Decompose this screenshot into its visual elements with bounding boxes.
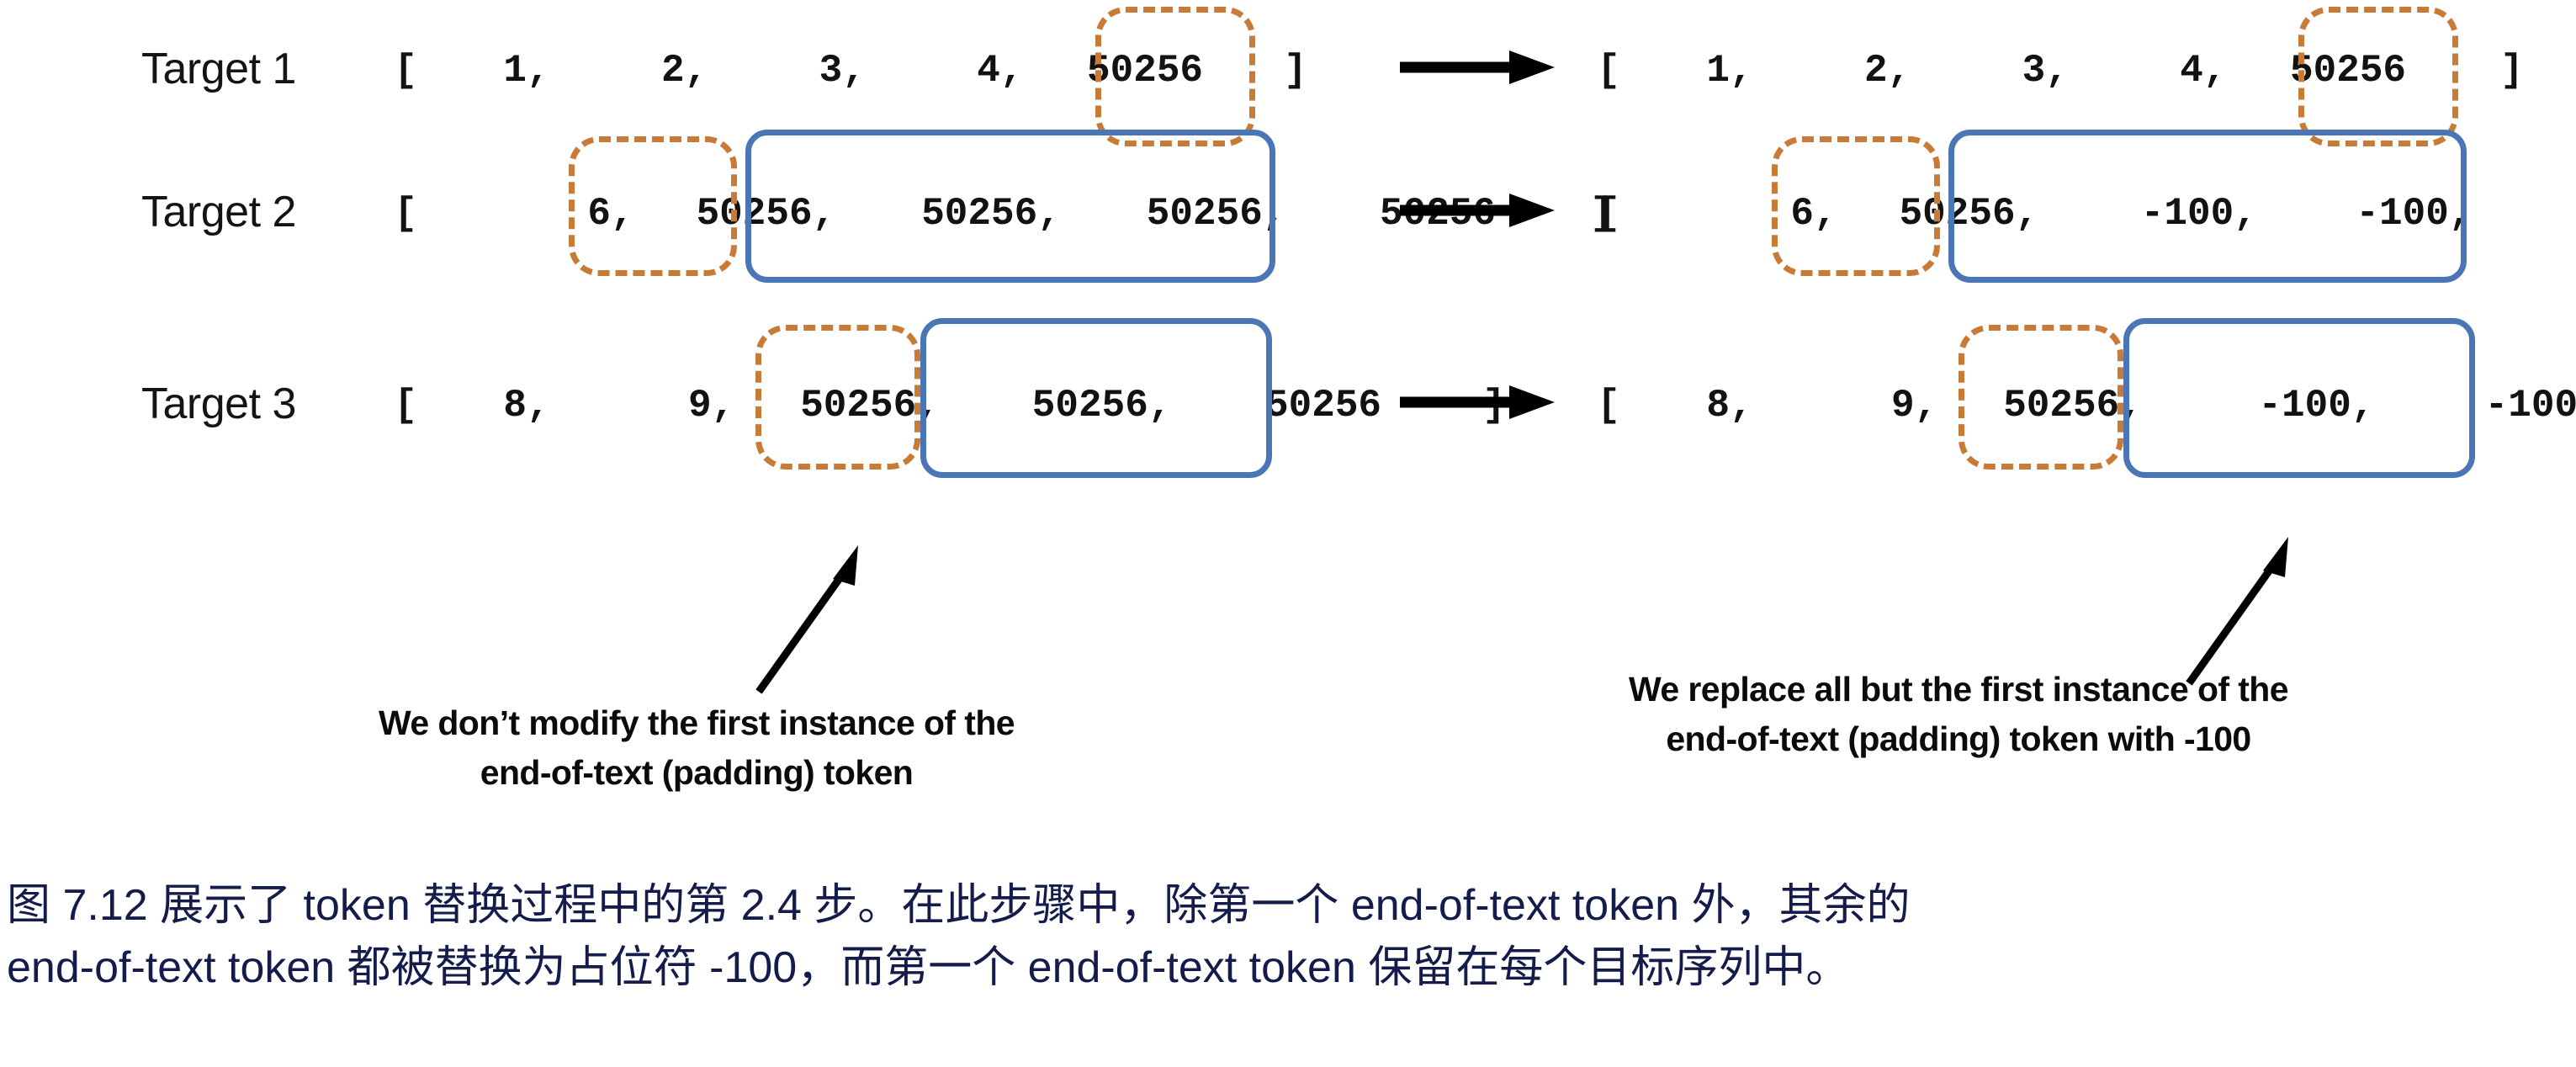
- dashed-highlight-box-first-eot: [755, 325, 920, 470]
- open-bracket: [: [1587, 192, 1620, 236]
- token: 1,: [1644, 49, 1753, 93]
- token: 3,: [731, 49, 866, 93]
- row-label-target-2: Target 2: [141, 187, 296, 237]
- blue-box-replaced-tokens: [2123, 318, 2475, 478]
- blue-box-replaced-tokens: [920, 318, 1272, 478]
- annotation-left: We don’t modify the first instance of th…: [276, 698, 1117, 799]
- token: 2,: [573, 49, 708, 93]
- transform-arrow-icon: [1397, 377, 1556, 427]
- token: 8,: [441, 384, 550, 427]
- open-bracket: [: [1587, 49, 1620, 93]
- annotation-left-line-2: end-of-text (padding) token: [276, 748, 1117, 798]
- dashed-highlight-box-first-eot: [1095, 7, 1255, 146]
- token: 9,: [1776, 384, 1937, 427]
- token: 4,: [2091, 49, 2226, 93]
- transform-arrow-icon: [1397, 185, 1556, 236]
- blue-box-replaced-tokens: [1948, 130, 2467, 283]
- annotation-right: We replace all but the first instance of…: [1513, 665, 2404, 765]
- token: 3,: [1934, 49, 2069, 93]
- row-label-target-3: Target 3: [141, 379, 296, 429]
- dashed-highlight-box-first-eot: [569, 136, 737, 276]
- blue-box-replaced-tokens: [745, 130, 1275, 283]
- pointer-arrow-left-icon: [740, 539, 875, 698]
- open-bracket: [: [384, 49, 417, 93]
- open-bracket: [: [384, 192, 417, 236]
- token: 4,: [888, 49, 1023, 93]
- dashed-highlight-box-first-eot: [2298, 7, 2458, 146]
- diagram-row-target-3: Target 3 [ 8, 9, 50256, 50256, 50256 ] […: [0, 335, 2576, 461]
- annotation-right-line-2: end-of-text (padding) token with -100: [1513, 714, 2404, 764]
- row-label-target-1: Target 1: [141, 44, 296, 94]
- figure-caption-line-1: 图 7.12 展示了 token 替换过程中的第 2.4 步。在此步骤中，除第一…: [7, 875, 2564, 937]
- open-bracket: [: [1587, 384, 1620, 427]
- annotation-right-line-1: We replace all but the first instance of…: [1513, 665, 2404, 714]
- token: 8,: [1644, 384, 1753, 427]
- token: 2,: [1776, 49, 1911, 93]
- token: 9,: [573, 384, 734, 427]
- dashed-highlight-box-first-eot: [1959, 325, 2123, 470]
- token-boxed: -100: [2495, 192, 2576, 236]
- open-bracket: [: [384, 384, 417, 427]
- dashed-highlight-box-first-eot: [1772, 136, 1940, 276]
- token: 1,: [441, 49, 550, 93]
- diagram-row-target-2: Target 2 [ 6, 50256, 50256, 50256, 50256…: [0, 143, 2576, 269]
- token-replacement-diagram: Target 1 [ 1, 2, 3, 4, 50256 ] [ 1, 2, 3…: [0, 0, 2576, 841]
- annotation-left-line-1: We don’t modify the first instance of th…: [276, 698, 1117, 748]
- figure-caption: 图 7.12 展示了 token 替换过程中的第 2.4 步。在此步骤中，除第一…: [7, 875, 2564, 1000]
- transform-arrow-icon: [1397, 42, 1556, 93]
- figure-caption-line-2: end-of-text token 都被替换为占位符 -100，而第一个 end…: [7, 937, 2564, 1000]
- diagram-row-target-1: Target 1 [ 1, 2, 3, 4, 50256 ] [ 1, 2, 3…: [0, 0, 2576, 126]
